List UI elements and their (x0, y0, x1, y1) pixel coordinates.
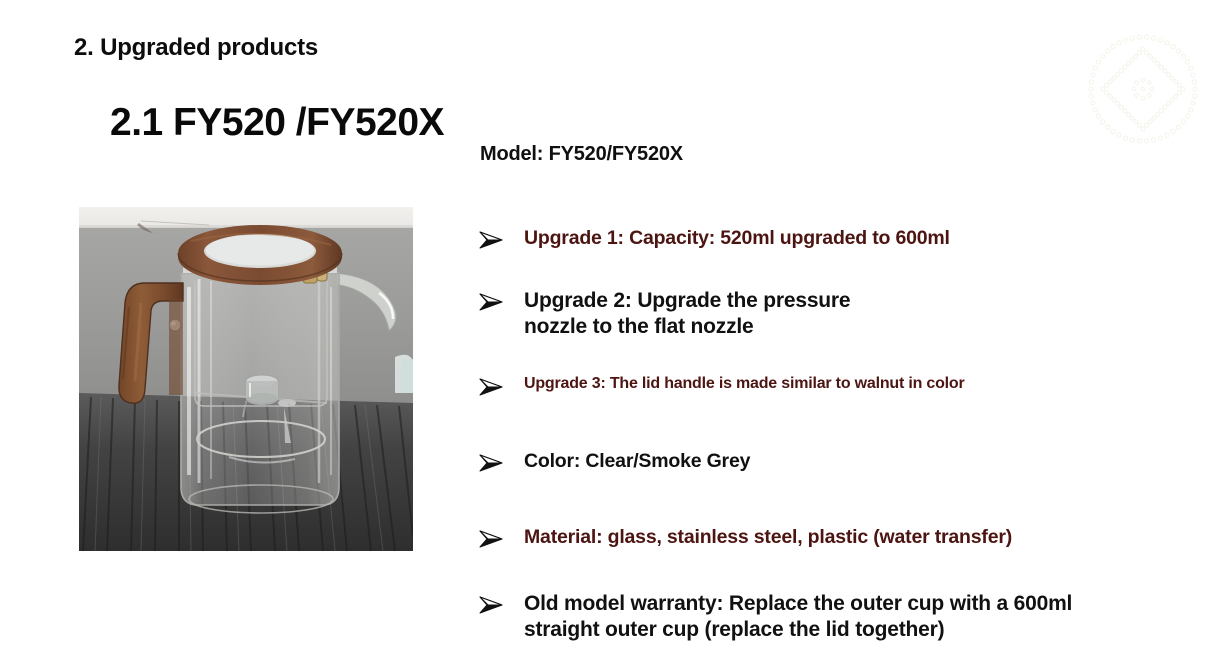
bullet-text-color: Color: Clear/Smoke Grey (524, 449, 750, 474)
list-item: Upgrade 2: Upgrade the pressure nozzle t… (478, 288, 850, 340)
bullet-text-upgrade-1: Upgrade 1: Capacity: 520ml upgraded to 6… (524, 226, 950, 251)
model-label: Model: FY520/FY520X (480, 143, 683, 166)
arrowhead-bullet-icon (478, 449, 524, 473)
bullet-line: Old model warranty: Replace the outer cu… (524, 592, 1072, 615)
list-item: Color: Clear/Smoke Grey (478, 449, 750, 474)
slide-canvas: 2. Upgraded products 2.1 FY520 /FY520X M… (0, 0, 1231, 659)
arrowhead-bullet-icon (478, 525, 524, 549)
list-item: Upgrade 1: Capacity: 520ml upgraded to 6… (478, 226, 950, 251)
bullet-line: straight outer cup (replace the lid toge… (524, 618, 944, 641)
arrowhead-bullet-icon (478, 373, 524, 397)
arrowhead-bullet-icon (478, 226, 524, 250)
bullet-text-old-model-warranty: Old model warranty: Replace the outer cu… (524, 591, 1072, 643)
arrowhead-bullet-icon (478, 288, 524, 312)
section-heading: 2. Upgraded products (74, 34, 318, 62)
brand-watermark-logo (1082, 28, 1204, 150)
bullet-line: Upgrade 2: Upgrade the pressure (524, 289, 850, 312)
page-title: 2.1 FY520 /FY520X (110, 101, 444, 145)
list-item: Material: glass, stainless steel, plasti… (478, 525, 1012, 550)
bullet-text-material: Material: glass, stainless steel, plasti… (524, 525, 1012, 550)
bullet-text-upgrade-2: Upgrade 2: Upgrade the pressure nozzle t… (524, 288, 850, 340)
arrowhead-bullet-icon (478, 591, 524, 615)
bullet-line: nozzle to the flat nozzle (524, 315, 754, 338)
list-item: Upgrade 3: The lid handle is made simila… (478, 373, 965, 397)
list-item: Old model warranty: Replace the outer cu… (478, 591, 1072, 643)
product-photo (79, 207, 413, 551)
bullet-text-upgrade-3: Upgrade 3: The lid handle is made simila… (524, 373, 965, 394)
